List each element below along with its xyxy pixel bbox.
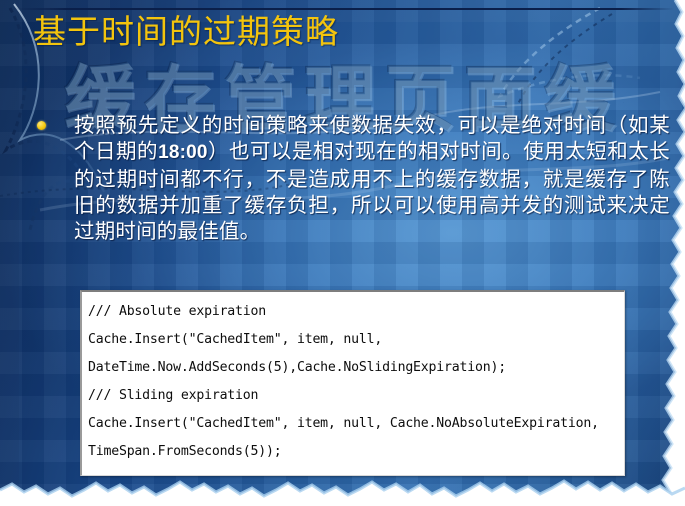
bullet-text-emphasis: 18:00 [158, 142, 208, 163]
bullet-body-text: 按照预先定义的时间策略来使数据失效，可以是绝对时间（如某个日期的18:00）也可… [74, 112, 670, 244]
code-snippet-text: /// Absolute expiration Cache.Insert("Ca… [88, 298, 622, 466]
code-snippet-box: /// Absolute expiration Cache.Insert("Ca… [80, 290, 625, 476]
page-title: 基于时间的过期策略 [33, 12, 339, 52]
presentation-slide: 缓存管理页面缓存 基于时间的过期策略 按照预先定义的时间策略来使数据失效，可以是… [0, 0, 685, 506]
top-divider-rule [14, 8, 674, 10]
bullet-dot-icon [37, 121, 46, 130]
